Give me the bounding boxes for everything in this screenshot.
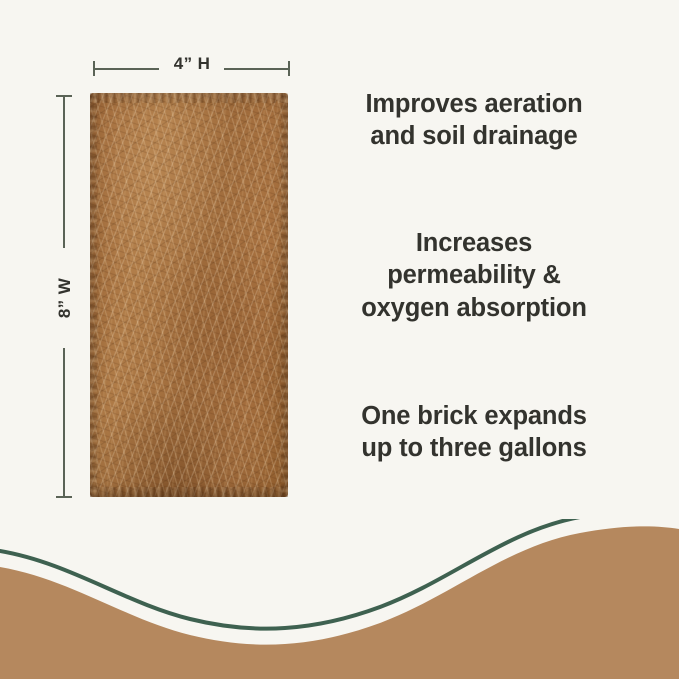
dimension-line-vertical-bottom <box>63 348 65 497</box>
dimension-cap-vertical-bottom <box>56 496 72 498</box>
soil-wave-fill <box>0 526 679 679</box>
feature-item-aeration: Improves aeration and soil drainage <box>324 88 624 152</box>
brick-edge-bottom <box>90 487 288 497</box>
feature-list: Improves aeration and soil drainage Incr… <box>324 88 624 464</box>
dimension-cap-vertical-top <box>56 95 72 97</box>
brick-edge-top <box>90 93 288 103</box>
dimension-label-horizontal: 4” H <box>159 55 225 72</box>
brick-edge-right <box>281 93 288 497</box>
dimension-label-vertical: 8” W <box>14 268 114 328</box>
dimension-line-horizontal-left <box>93 68 159 70</box>
soil-wave-decoration <box>0 519 679 679</box>
infographic-canvas: 4” H 8” W Improves aeration and soil dra… <box>0 0 679 679</box>
dimension-cap-horizontal-right <box>288 61 290 76</box>
dimension-line-vertical-top <box>63 96 65 248</box>
coco-coir-brick-image <box>90 93 288 497</box>
feature-item-permeability: Increases permeability & oxygen absorpti… <box>324 227 624 323</box>
dimension-cap-horizontal-left <box>93 61 95 76</box>
feature-item-expansion: One brick expands up to three gallons <box>324 400 624 464</box>
dimension-line-horizontal-right <box>224 68 290 70</box>
